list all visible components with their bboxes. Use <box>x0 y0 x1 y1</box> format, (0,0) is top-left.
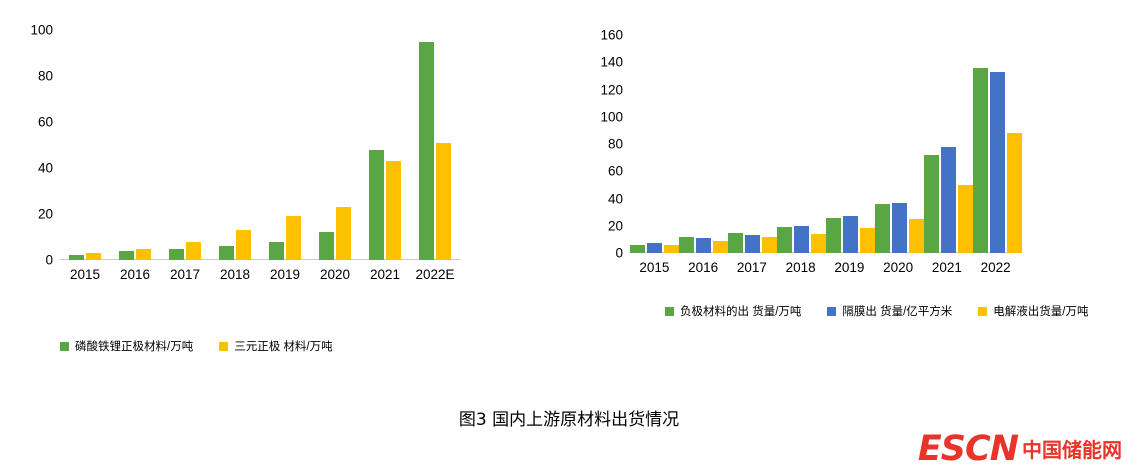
right-x-label: 2021 <box>923 253 972 275</box>
right-bar-group <box>777 35 826 253</box>
right-x-label: 2018 <box>776 253 825 275</box>
left-y-tick: 0 <box>45 253 60 268</box>
right-x-label: 2022 <box>971 253 1020 275</box>
right-x-labels: 20152016201720182019202020212022 <box>630 253 1020 275</box>
right-bar <box>973 68 988 253</box>
right-y-tick: 0 <box>615 246 630 261</box>
left-x-label: 2021 <box>360 260 410 282</box>
left-y-tick: 20 <box>38 207 60 222</box>
chart-left: 020406080100 201520162017201820192020202… <box>0 0 520 400</box>
right-bar-group <box>973 35 1022 253</box>
left-bar <box>119 251 134 260</box>
right-bar <box>728 233 743 253</box>
left-bar <box>419 42 434 261</box>
left-bar-group <box>360 30 410 260</box>
right-y-tick: 100 <box>600 109 630 124</box>
left-plot-area: 020406080100 201520162017201820192020202… <box>60 30 460 260</box>
left-bar <box>319 232 334 260</box>
left-bars <box>60 30 460 260</box>
left-bar <box>269 242 284 260</box>
legend-swatch-icon <box>665 307 674 316</box>
right-legend: 负极材料的出 货量/万吨隔膜出 货量/亿平方米电解液出货量/万吨 <box>665 303 1125 327</box>
right-bar-group <box>728 35 777 253</box>
right-bar <box>843 216 858 253</box>
left-bar <box>386 161 401 260</box>
right-legend-item[interactable]: 电解液出货量/万吨 <box>978 303 1088 319</box>
right-bar <box>745 235 760 253</box>
right-legend-item[interactable]: 负极材料的出 货量/万吨 <box>665 303 801 319</box>
legend-swatch-icon <box>60 342 69 351</box>
left-x-labels: 20152016201720182019202020212022E <box>60 260 460 282</box>
right-bar <box>762 237 777 253</box>
left-bar <box>186 242 201 260</box>
escn-watermark: ESCN 中国储能网 <box>918 432 1122 467</box>
left-bar <box>86 253 101 260</box>
right-legend-item[interactable]: 隔膜出 货量/亿平方米 <box>827 303 952 319</box>
left-bar-group <box>260 30 310 260</box>
right-y-tick: 80 <box>608 137 630 152</box>
legend-swatch-icon <box>219 342 228 351</box>
left-bar-group <box>410 30 460 260</box>
right-bars <box>630 35 1020 253</box>
right-bar-group <box>826 35 875 253</box>
right-bar <box>860 228 875 253</box>
left-bar-group <box>110 30 160 260</box>
right-bar <box>630 245 645 253</box>
right-bar <box>1007 133 1022 253</box>
left-x-label: 2015 <box>60 260 110 282</box>
left-y-tick: 80 <box>38 69 60 84</box>
chart-right: 020406080100120140160 201520162017201820… <box>545 0 1138 400</box>
right-y-tick: 40 <box>608 191 630 206</box>
left-legend: 磷酸铁锂正极材料/万吨三元正极 材料/万吨 <box>60 338 480 362</box>
left-bar-group <box>60 30 110 260</box>
left-legend-item[interactable]: 三元正极 材料/万吨 <box>219 338 332 354</box>
left-bar <box>286 216 301 260</box>
left-bar <box>336 207 351 260</box>
left-legend-label: 磷酸铁锂正极材料/万吨 <box>75 338 193 354</box>
right-bar <box>713 241 728 253</box>
right-legend-label: 负极材料的出 货量/万吨 <box>680 303 801 319</box>
right-bar <box>679 237 694 253</box>
right-bar <box>777 227 792 253</box>
legend-swatch-icon <box>978 307 987 316</box>
left-bar <box>236 230 251 260</box>
right-bar <box>909 219 924 253</box>
left-bar <box>436 143 451 260</box>
right-bar-group <box>679 35 728 253</box>
right-bar-group <box>924 35 973 253</box>
right-bar-group <box>875 35 924 253</box>
left-x-label: 2019 <box>260 260 310 282</box>
right-y-tick: 20 <box>608 218 630 233</box>
right-bar <box>794 226 809 253</box>
left-bar-group <box>310 30 360 260</box>
left-x-label: 2022E <box>410 260 460 282</box>
legend-swatch-icon <box>827 307 836 316</box>
left-bar <box>219 246 234 260</box>
left-y-tick: 60 <box>38 115 60 130</box>
left-x-label: 2018 <box>210 260 260 282</box>
right-bar <box>958 185 973 253</box>
right-bar <box>664 245 679 253</box>
left-y-tick: 40 <box>38 161 60 176</box>
right-x-label: 2015 <box>630 253 679 275</box>
right-y-tick: 140 <box>600 55 630 70</box>
right-bar <box>696 238 711 253</box>
right-x-label: 2016 <box>679 253 728 275</box>
left-y-tick: 100 <box>30 23 60 38</box>
right-bar <box>990 72 1005 253</box>
right-x-label: 2017 <box>728 253 777 275</box>
right-bar <box>924 155 939 253</box>
left-bar-group <box>210 30 260 260</box>
right-y-tick: 60 <box>608 164 630 179</box>
left-bar <box>369 150 384 260</box>
right-bar <box>647 243 662 253</box>
right-bar <box>875 204 890 253</box>
left-bar <box>136 249 151 261</box>
left-legend-item[interactable]: 磷酸铁锂正极材料/万吨 <box>60 338 193 354</box>
right-legend-label: 电解液出货量/万吨 <box>993 303 1088 319</box>
left-x-label: 2016 <box>110 260 160 282</box>
escn-logo-cn-text: 中国储能网 <box>1022 440 1122 460</box>
right-x-label: 2020 <box>874 253 923 275</box>
escn-logo-text: ESCN <box>918 432 1018 467</box>
right-bar-group <box>630 35 679 253</box>
right-bar <box>892 203 907 253</box>
right-y-tick: 160 <box>600 28 630 43</box>
right-plot-area: 020406080100120140160 201520162017201820… <box>630 35 1020 253</box>
left-legend-label: 三元正极 材料/万吨 <box>234 338 332 354</box>
right-legend-label: 隔膜出 货量/亿平方米 <box>842 303 952 319</box>
left-x-label: 2020 <box>310 260 360 282</box>
right-bar <box>811 234 826 253</box>
right-x-label: 2019 <box>825 253 874 275</box>
left-bar <box>169 249 184 261</box>
left-bar-group <box>160 30 210 260</box>
right-y-tick: 120 <box>600 82 630 97</box>
right-bar <box>941 147 956 253</box>
right-bar <box>826 218 841 253</box>
left-x-label: 2017 <box>160 260 210 282</box>
figure-caption: 图3 国内上游原材料出货情况 <box>0 405 1138 430</box>
